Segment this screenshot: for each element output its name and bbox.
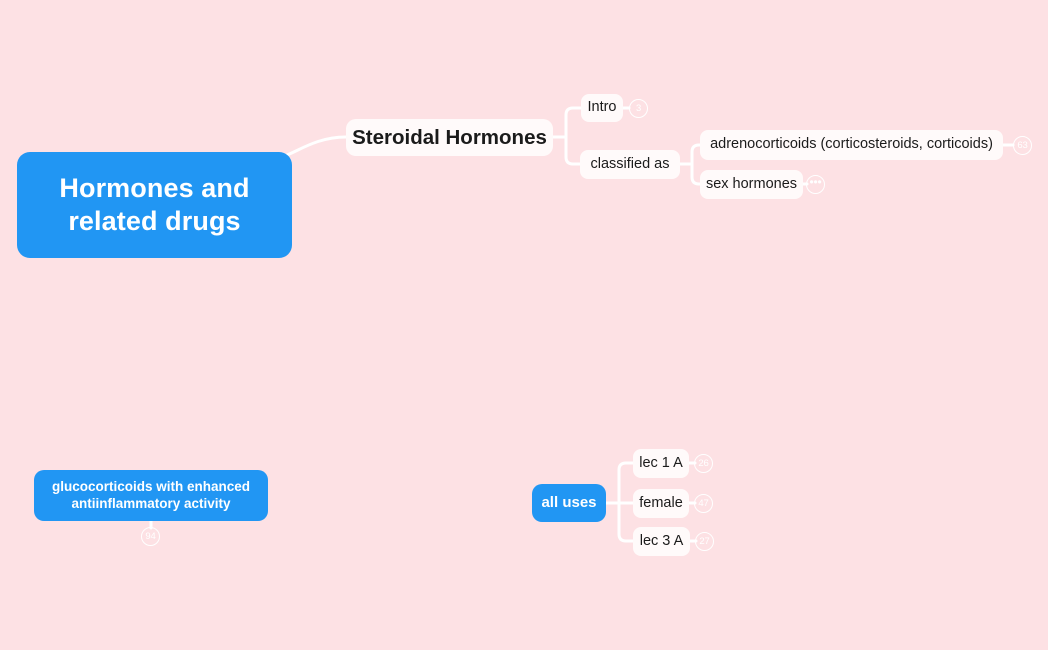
badge-female-count-label: 47 xyxy=(698,499,708,509)
node-glucocorticoids-label: glucocorticoids with enhanced antiinflam… xyxy=(46,479,256,512)
node-steroidal-hormones-label: Steroidal Hormones xyxy=(352,125,547,150)
mindmap-canvas[interactable]: Hormones and related drugs Steroidal Hor… xyxy=(0,0,1048,650)
node-steroidal-hormones[interactable]: Steroidal Hormones xyxy=(346,119,553,156)
badge-intro-count-label: 3 xyxy=(636,104,641,114)
edge-steroidal-to-intro xyxy=(566,108,581,137)
node-lec-3-a-label: lec 3 A xyxy=(640,533,684,551)
edge-root-to-steroidal xyxy=(287,137,346,155)
node-classified-as[interactable]: classified as xyxy=(580,150,680,179)
badge-glucocorticoids-count-label: 94 xyxy=(145,532,155,542)
node-female-label: female xyxy=(639,495,683,513)
node-root[interactable]: Hormones and related drugs xyxy=(17,152,292,258)
node-sex-hormones-label: sex hormones xyxy=(706,176,797,194)
node-adrenocorticoids[interactable]: adrenocorticoids (corticosteroids, corti… xyxy=(700,130,1003,160)
node-lec-1-a[interactable]: lec 1 A xyxy=(633,449,689,478)
node-all-uses[interactable]: all uses xyxy=(532,484,606,522)
edge-steroidal-to-classified xyxy=(566,137,580,164)
badge-lec-3-a-count[interactable]: 27 xyxy=(695,532,714,551)
node-female[interactable]: female xyxy=(633,489,689,518)
node-intro-label: Intro xyxy=(587,99,616,117)
badge-intro-count[interactable]: 3 xyxy=(629,99,648,118)
badge-lec-3-a-count-label: 27 xyxy=(699,537,709,547)
node-sex-hormones[interactable]: sex hormones xyxy=(700,170,803,199)
connector-layer xyxy=(0,0,1048,650)
edge-alluses-to-lec3a xyxy=(619,503,634,541)
badge-sex-hormones-collapsed[interactable]: ••• xyxy=(806,175,825,194)
badge-lec-1-a-count-label: 26 xyxy=(698,459,708,469)
node-classified-as-label: classified as xyxy=(591,156,670,174)
edge-alluses-to-lec1a xyxy=(619,463,634,503)
badge-adrenocorticoids-count-label: 63 xyxy=(1017,141,1027,151)
node-all-uses-label: all uses xyxy=(541,494,596,512)
badge-sex-hormones-collapsed-label: ••• xyxy=(809,176,821,188)
node-glucocorticoids[interactable]: glucocorticoids with enhanced antiinflam… xyxy=(34,470,268,521)
node-lec-1-a-label: lec 1 A xyxy=(639,455,683,473)
badge-lec-1-a-count[interactable]: 26 xyxy=(694,454,713,473)
node-root-label: Hormones and related drugs xyxy=(17,172,292,238)
badge-adrenocorticoids-count[interactable]: 63 xyxy=(1013,136,1032,155)
badge-female-count[interactable]: 47 xyxy=(694,494,713,513)
node-adrenocorticoids-label: adrenocorticoids (corticosteroids, corti… xyxy=(710,136,993,154)
node-lec-3-a[interactable]: lec 3 A xyxy=(633,527,690,556)
badge-glucocorticoids-count[interactable]: 94 xyxy=(141,527,160,546)
node-intro[interactable]: Intro xyxy=(581,94,623,122)
